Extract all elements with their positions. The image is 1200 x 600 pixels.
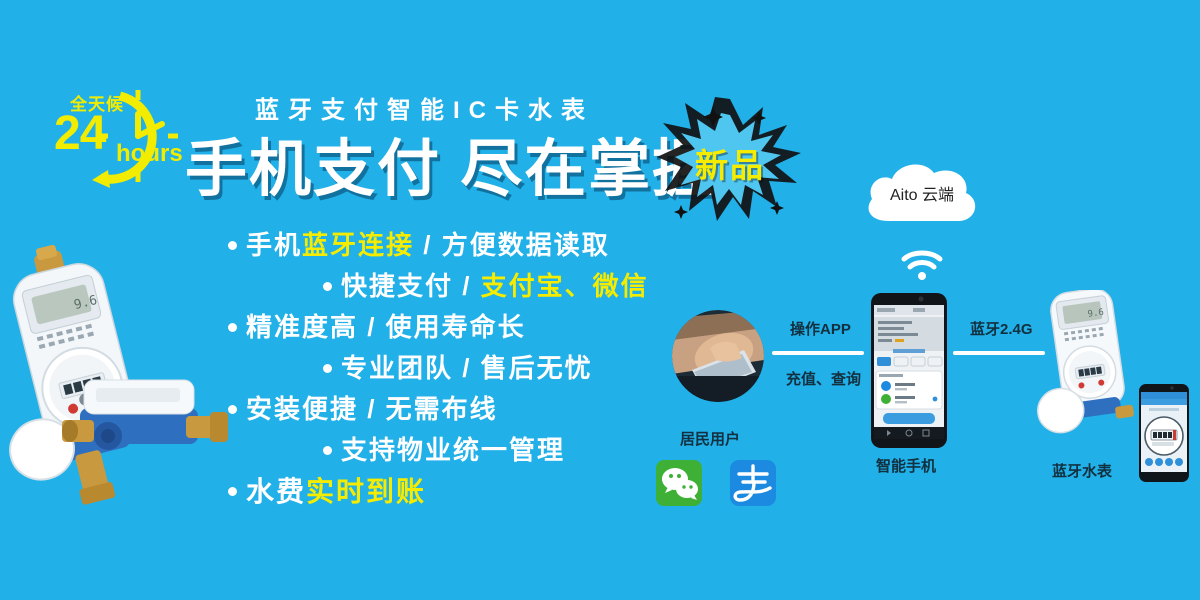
badge-hours-label: hours [116, 142, 183, 166]
alipay-icon [730, 460, 776, 506]
wechat-pay-icon [656, 460, 702, 506]
phone-label: 智能手机 [876, 455, 936, 476]
list-item: 精准度高 / 使用寿命长 [228, 314, 698, 340]
payment-icons [656, 460, 776, 506]
smartphone-meter-reading [1139, 384, 1189, 482]
user-photo [672, 310, 764, 402]
product-images-left: 9.6 [0, 230, 250, 510]
list-item: 水费实时到账 [228, 478, 698, 506]
badge-24hours: 全天候 24 hours [48, 84, 196, 188]
bullet-dot [323, 364, 332, 373]
cloud-label: Aito 云端 [858, 181, 986, 205]
promo-banner: 全天候 24 hours 蓝牙支付智能IC卡水表 手机支付 尽在掌握 新品 [0, 0, 1200, 600]
valve-control-water-meter [62, 380, 228, 450]
link-label-recharge-query: 充值、查询 [786, 368, 861, 389]
bullet-dot [228, 405, 237, 414]
list-item: 专业团队 / 售后无忧 [228, 355, 698, 381]
cloud-node: Aito 云端 [858, 155, 986, 229]
list-item: 支持物业统一管理 [228, 437, 698, 463]
bullet-dot [228, 241, 237, 250]
bullet-dot [228, 323, 237, 332]
link-label-operate-app: 操作APP [790, 318, 851, 339]
bullet-dot [323, 282, 332, 291]
smartphone-app [871, 293, 947, 448]
bullet-dot [323, 446, 332, 455]
list-item: 安装便捷 / 无需布线 [228, 396, 698, 422]
bullet-dot [228, 487, 237, 496]
new-product-label: 新品 [655, 139, 805, 187]
badge-number: 24 [54, 110, 105, 158]
list-item: 快捷支付 / 支付宝、微信 [228, 273, 698, 299]
user-label: 居民用户 [680, 428, 740, 449]
list-item: 手机蓝牙连接 / 方便数据读取 [228, 232, 698, 258]
new-product-badge: 新品 [655, 95, 805, 223]
wifi-icon [900, 248, 944, 282]
feature-list: 手机蓝牙连接 / 方便数据读取 快捷支付 / 支付宝、微信 精准度高 / 使用寿… [228, 232, 698, 521]
ic-card-water-meter: 9.6 [0, 235, 155, 510]
headline-main: 手机支付 尽在掌握 [185, 118, 716, 208]
connector-user-phone [772, 351, 864, 355]
meter-label: 蓝牙水表 [1052, 460, 1112, 481]
